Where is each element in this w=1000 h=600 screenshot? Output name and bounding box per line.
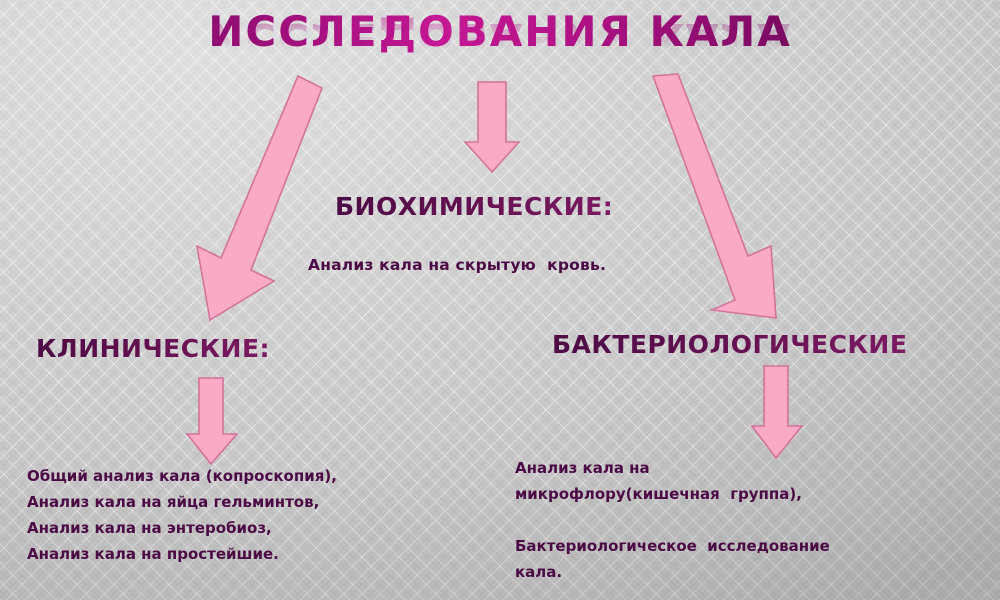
diagonal-arrow-clinical xyxy=(185,70,330,330)
bacteriological-items-list: Анализ кала на микрофлору(кишечная групп… xyxy=(515,455,830,585)
clinical-items-list: Общий анализ кала (копроскопия), Анализ … xyxy=(27,463,337,567)
down-arrow-biochemical xyxy=(462,80,522,175)
heading-clinical: КЛИНИЧЕСКИЕ: xyxy=(36,334,270,363)
heading-biochemical: БИОХИМИЧЕСКИЕ: xyxy=(335,192,613,221)
down-arrow-bacteriological xyxy=(750,366,806,460)
heading-bacteriological: БАКТЕРИОЛОГИЧЕСКИЕ xyxy=(552,330,907,359)
diagonal-arrow-bacteriological xyxy=(645,70,800,322)
biochemical-note: Анализ кала на скрытую кровь. xyxy=(308,252,606,278)
slide-canvas: ИССЛЕДОВАНИЯ КАЛА ИССЛЕДОВАНИЯ КАЛА БИОХ… xyxy=(0,0,1000,600)
down-arrow-clinical xyxy=(185,376,241,466)
page-title-reflection: ИССЛЕДОВАНИЯ КАЛА xyxy=(0,17,1000,59)
